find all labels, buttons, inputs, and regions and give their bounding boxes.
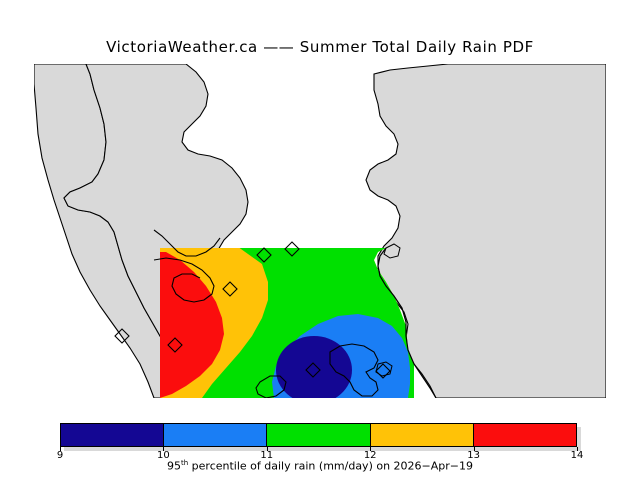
colorbar-segment-10-11[interactable]	[164, 424, 267, 446]
map-body	[34, 64, 606, 398]
colorbar-segment-12-13[interactable]	[371, 424, 474, 446]
caption-rest: percentile of daily rain (mm/day) on 202…	[188, 460, 473, 473]
caption-percentile-number: 95	[167, 460, 181, 473]
colorbar-segment-9-10[interactable]	[61, 424, 164, 446]
colorbar-segments[interactable]	[60, 423, 577, 447]
contour-map[interactable]	[34, 64, 606, 398]
colorbar-caption: 95th percentile of daily rain (mm/day) o…	[0, 459, 640, 473]
map-panel[interactable]	[34, 64, 606, 398]
weather-map-page: VictoriaWeather.ca —— Summer Total Daily…	[0, 0, 640, 480]
colorbar	[60, 423, 581, 449]
colorbar-segment-11-12[interactable]	[267, 424, 370, 446]
page-title: VictoriaWeather.ca —— Summer Total Daily…	[0, 38, 640, 56]
colorbar-segment-13-14[interactable]	[474, 424, 576, 446]
